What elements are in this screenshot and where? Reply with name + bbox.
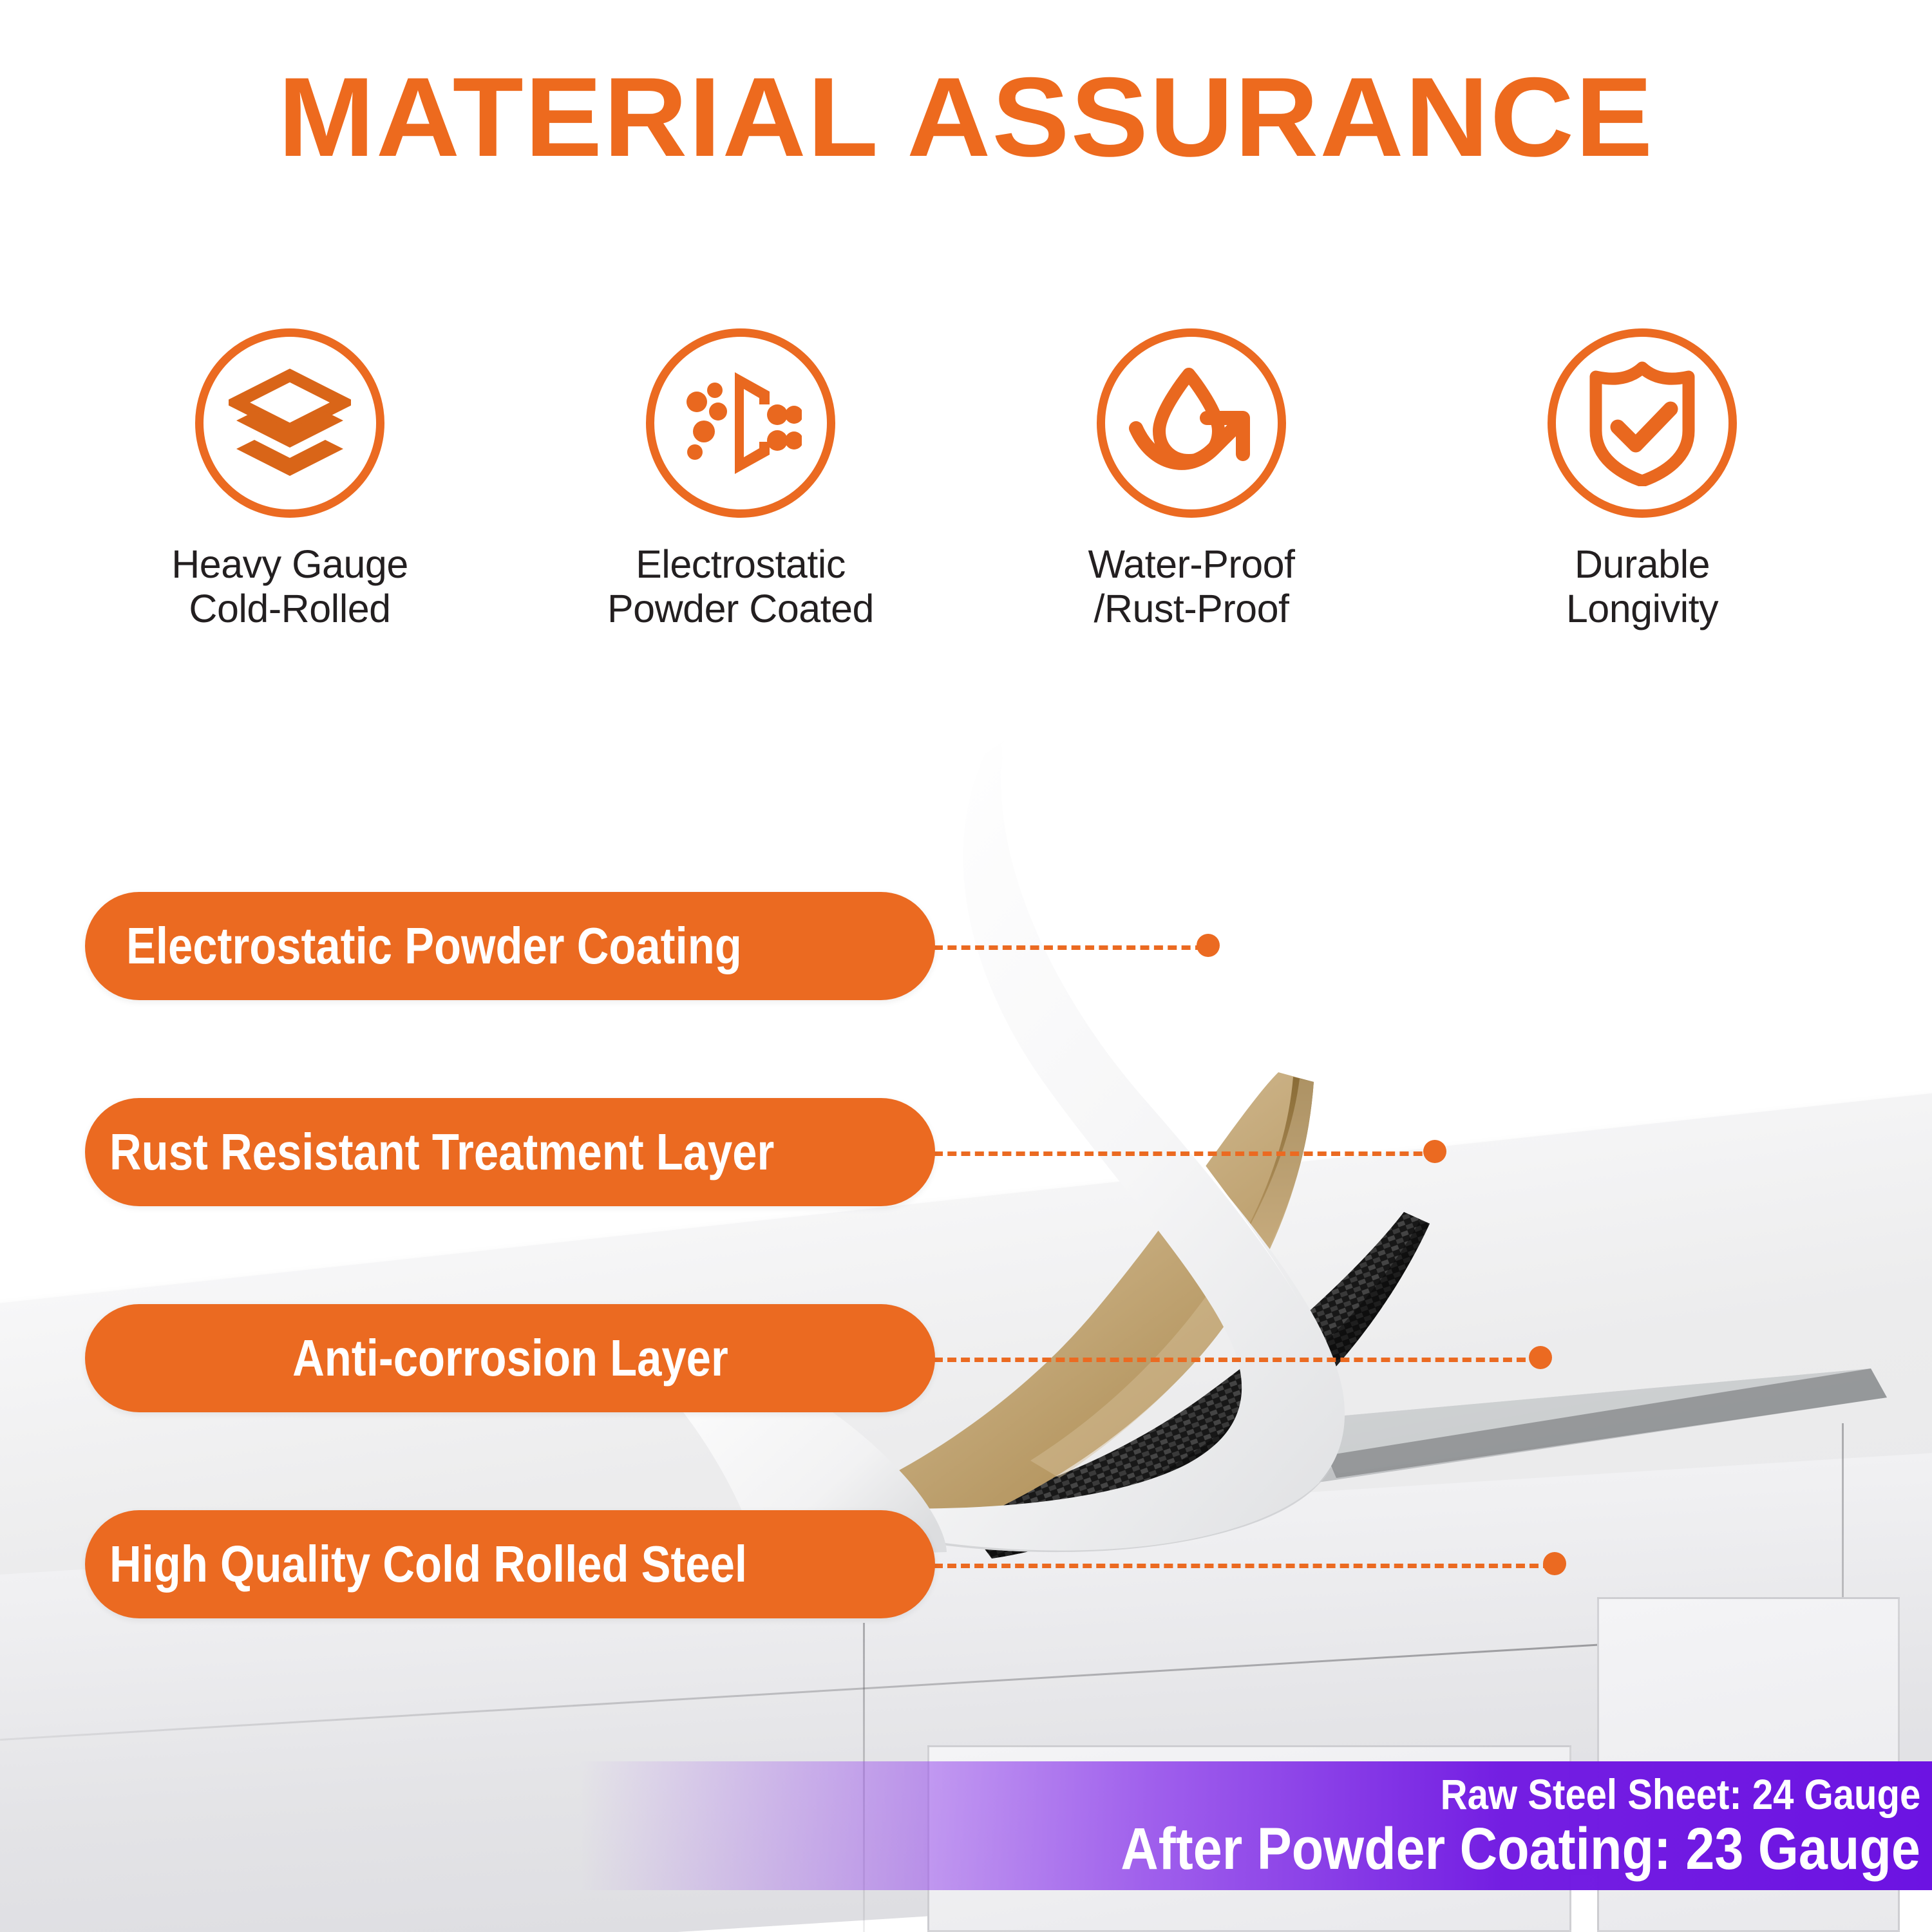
callout-pill-electrostatic-powder-coating[interactable]: Electrostatic Powder Coating <box>85 892 935 1000</box>
shield-check-icon <box>1584 360 1700 486</box>
infographic-canvas: MATERIAL ASSURANCE Heavy <box>0 0 1932 1932</box>
leader-line-4 <box>934 1564 1552 1568</box>
feature-icon-circle <box>1548 328 1737 518</box>
feature-label: Water-Proof /Rust-Proof <box>1088 542 1294 631</box>
feature-label: Heavy Gauge Cold-Rolled <box>171 542 408 631</box>
feature-electrostatic-powder-coated: Electrostatic Powder Coated <box>515 328 966 676</box>
callout-pill-anti-corrosion-layer[interactable]: Anti-corrosion Layer <box>85 1304 935 1412</box>
leader-line-2 <box>934 1151 1436 1156</box>
leader-dot-3 <box>1529 1346 1552 1369</box>
layers-stack-icon <box>229 365 351 481</box>
gauge-banner-line-after-coating: After Powder Coating: 23 Gauge <box>1121 1819 1920 1879</box>
feature-durable-longivity: Durable Longivity <box>1417 328 1868 676</box>
feature-badge-row: Heavy Gauge Cold-Rolled <box>64 328 1868 676</box>
callout-pill-high-quality-cold-rolled-steel[interactable]: High Quality Cold Rolled Steel <box>85 1510 935 1618</box>
powder-spray-panel-icon <box>679 362 802 484</box>
water-droplet-arrow-icon <box>1127 365 1256 481</box>
feature-water-proof-rust-proof: Water-Proof /Rust-Proof <box>966 328 1417 676</box>
material-layers-illustration <box>0 657 1932 1932</box>
callout-label: Anti-corrosion Layer <box>292 1329 728 1388</box>
feature-heavy-gauge-cold-rolled: Heavy Gauge Cold-Rolled <box>64 328 515 676</box>
leader-dot-2 <box>1423 1140 1446 1163</box>
leader-dot-4 <box>1543 1552 1566 1575</box>
gauge-banner-line-raw-steel: Raw Steel Sheet: 24 Gauge <box>1440 1773 1920 1815</box>
feature-icon-circle <box>195 328 384 518</box>
feature-icon-circle <box>1097 328 1286 518</box>
callout-label: Rust Resistant Treatment Layer <box>109 1122 774 1182</box>
feature-label: Electrostatic Powder Coated <box>607 542 874 631</box>
leader-dot-1 <box>1197 934 1220 957</box>
feature-icon-circle <box>646 328 835 518</box>
feature-label: Durable Longivity <box>1566 542 1718 631</box>
page-title: MATERIAL ASSURANCE <box>0 61 1932 174</box>
gauge-banner: Raw Steel Sheet: 24 Gauge After Powder C… <box>580 1761 1932 1890</box>
leader-line-1 <box>934 945 1204 950</box>
callout-pill-rust-resistant-treatment-layer[interactable]: Rust Resistant Treatment Layer <box>85 1098 935 1206</box>
layer-sheet-group <box>0 657 1932 1932</box>
callout-label: Electrostatic Powder Coating <box>126 916 742 976</box>
leader-line-3 <box>934 1358 1539 1362</box>
callout-label: High Quality Cold Rolled Steel <box>109 1535 747 1594</box>
